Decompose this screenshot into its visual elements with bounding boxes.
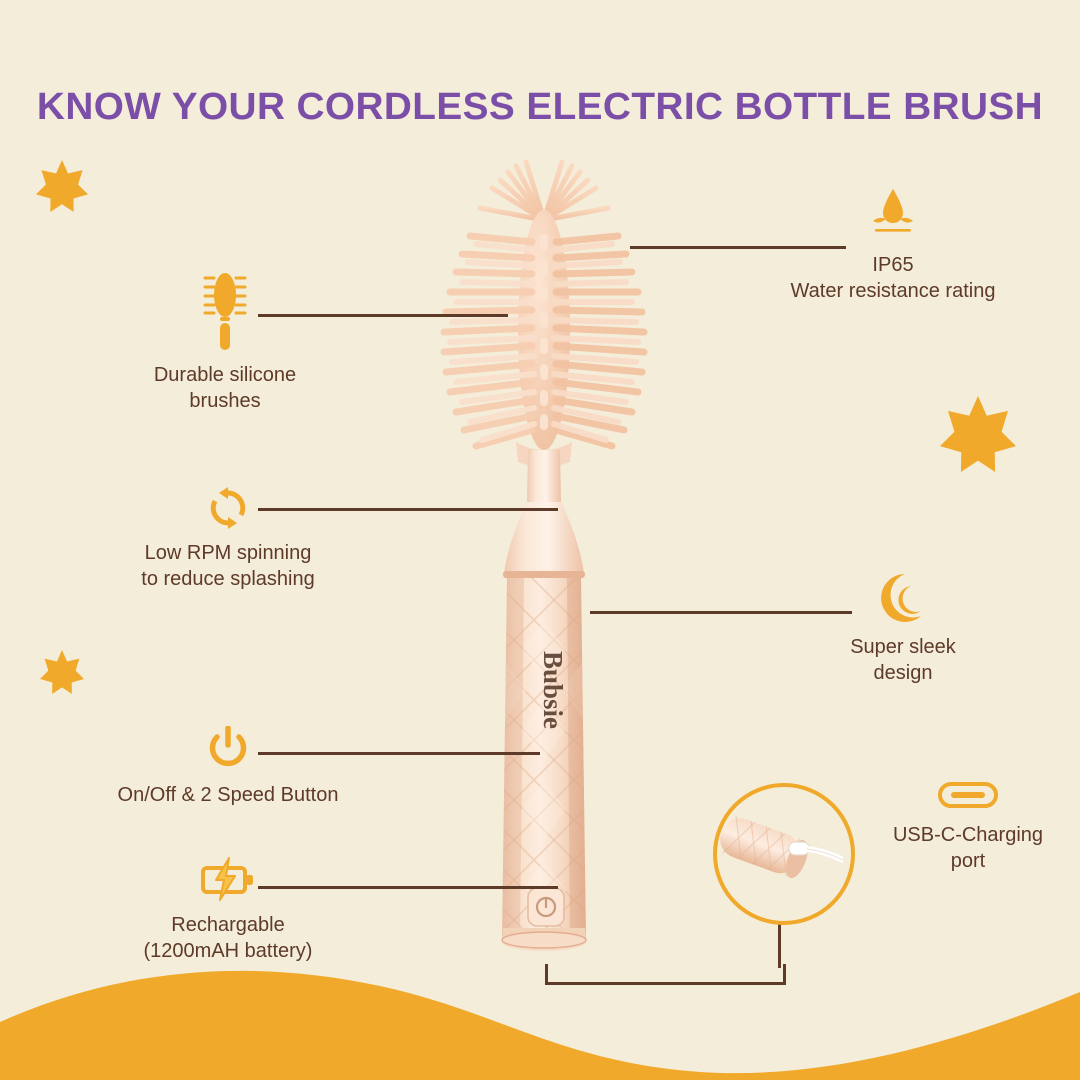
infographic-canvas: KNOW YOUR CORDLESS ELECTRIC BOTTLE BRUSH — [0, 0, 1080, 1080]
callout-sleek-design: Super sleek design — [778, 572, 1028, 687]
callout-silicone-brushes: Durable silicone brushes — [100, 268, 350, 415]
callout-line2: brushes — [100, 388, 350, 414]
usb-c-icon — [858, 778, 1078, 812]
brush-icon — [100, 268, 350, 352]
rotation-arrows-icon — [103, 486, 353, 530]
callout-line1: Durable silicone — [100, 362, 350, 388]
water-drop-icon — [768, 186, 1018, 242]
callout-water-resistance: IP65 Water resistance rating — [768, 186, 1018, 305]
callout-line1: Low RPM spinning — [103, 540, 353, 566]
callout-line1: USB-C-Charging — [858, 822, 1078, 848]
swoosh-arcs-icon — [778, 572, 1028, 624]
callout-rechargable: Rechargable (1200mAH battery) — [103, 856, 353, 965]
callout-line2: design — [778, 660, 1028, 686]
power-icon — [78, 726, 378, 772]
star-decoration-top-left — [36, 160, 88, 212]
battery-bolt-icon — [103, 856, 353, 902]
star-decoration-bottom-left — [40, 650, 84, 694]
callout-power-button: On/Off & 2 Speed Button — [78, 726, 378, 808]
usb-port-magnifier — [713, 783, 855, 925]
page-title: KNOW YOUR CORDLESS ELECTRIC BOTTLE BRUSH — [0, 86, 1080, 129]
bottom-wave-decoration — [0, 950, 1080, 1080]
callout-line2: Water resistance rating — [768, 278, 1018, 304]
callout-line1: Rechargable — [103, 912, 353, 938]
callout-line1: On/Off & 2 Speed Button — [78, 782, 378, 808]
callout-line2: to reduce splashing — [103, 566, 353, 592]
star-decoration-right — [940, 396, 1016, 472]
product-illustration: Bubsie — [404, 150, 684, 980]
callout-line1: Super sleek — [778, 634, 1028, 660]
callout-line1: IP65 — [768, 252, 1018, 278]
callout-line2: port — [858, 848, 1078, 874]
callout-low-rpm: Low RPM spinning to reduce splashing — [103, 486, 353, 593]
callout-usb-c-port: USB-C-Charging port — [858, 778, 1078, 875]
brand-text: Bubsie — [538, 651, 568, 729]
product-power-button — [528, 888, 564, 926]
